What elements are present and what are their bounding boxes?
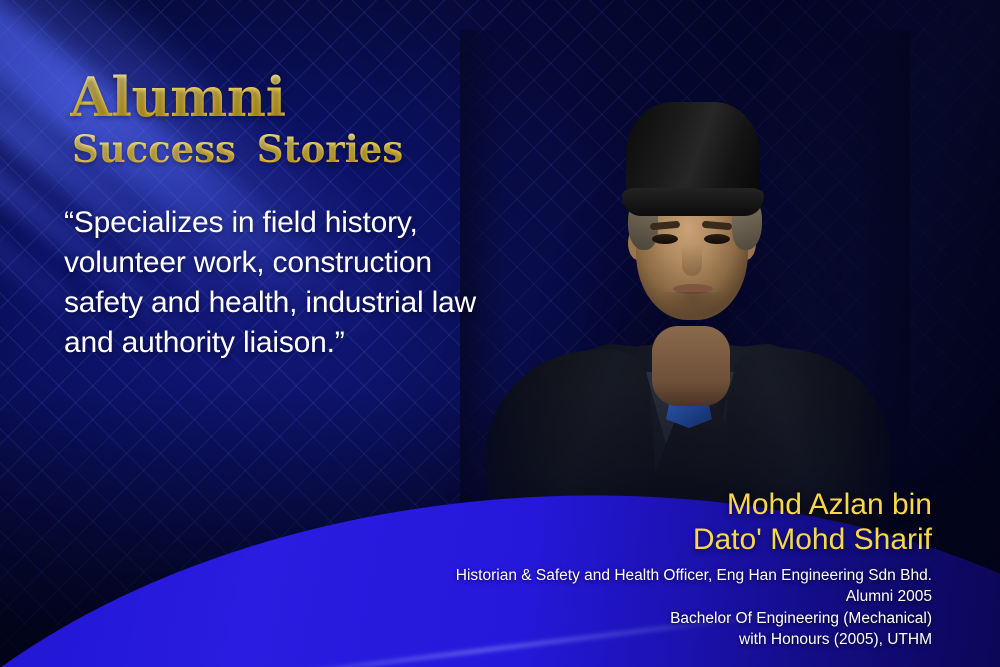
quote-line: and authority liaison.” [64, 323, 564, 363]
quote-text: “Specializes in field history, volunteer… [64, 203, 564, 363]
quote-line: volunteer work, construction [64, 243, 564, 283]
person-degree-detail: with Honours (2005), UTHM [372, 629, 932, 650]
quote-line: “Specializes in field history, [64, 203, 564, 243]
page-title: Alumni [70, 70, 403, 124]
alumni-success-story-poster: Alumni Success Stories “Specializes in f… [0, 0, 1000, 667]
person-name-line: Dato' Mohd Sharif [372, 522, 932, 557]
person-credentials: Historian & Safety and Health Officer, E… [372, 565, 932, 650]
quote-line: safety and health, industrial law [64, 283, 564, 323]
person-alumni-year: Alumni 2005 [372, 586, 932, 607]
person-name-line: Mohd Azlan bin [372, 487, 932, 522]
person-caption: Mohd Azlan bin Dato' Mohd Sharif Histori… [372, 487, 932, 650]
person-degree: Bachelor Of Engineering (Mechanical) [372, 608, 932, 629]
person-role: Historian & Safety and Health Officer, E… [372, 565, 932, 586]
person-name: Mohd Azlan bin Dato' Mohd Sharif [372, 487, 932, 557]
page-subtitle: Success Stories [72, 128, 403, 171]
heading-block: Alumni Success Stories [70, 70, 403, 171]
